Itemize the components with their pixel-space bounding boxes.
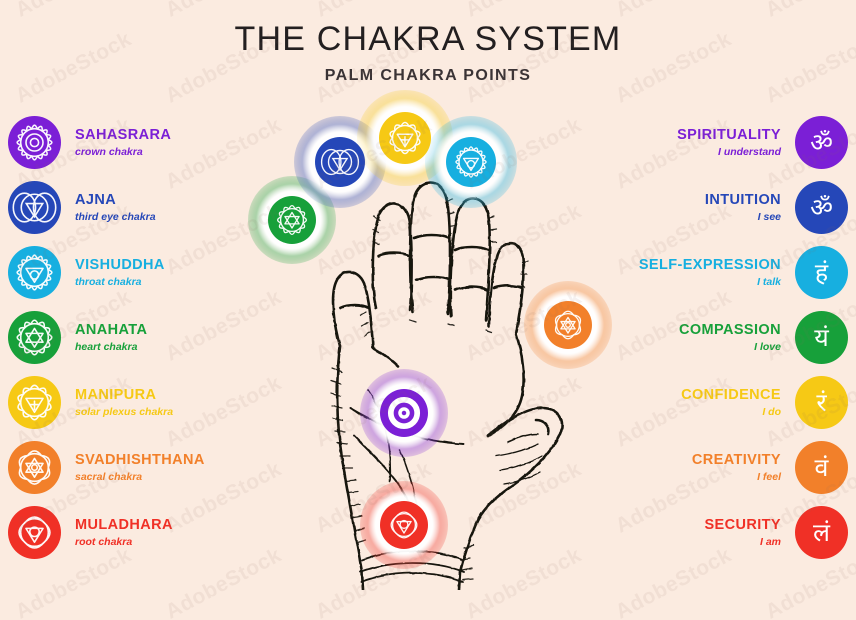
left-label-group: MULADHARAroot chakra	[75, 517, 173, 548]
sahasrara-rings-icon	[380, 389, 428, 437]
right-label-group: SPIRITUALITYI understand	[677, 127, 781, 158]
right-row-spirituality[interactable]: ॐSPIRITUALITYI understand	[588, 110, 848, 175]
page-subtitle: PALM CHAKRA POINTS	[0, 67, 856, 85]
chakra-name-list: SAHASRARAcrown chakra	[8, 110, 268, 565]
anahata-lotus-icon[interactable]	[8, 311, 61, 364]
mantra-glyph: ॐ	[810, 195, 833, 220]
left-secondary-label: third eye chakra	[75, 211, 156, 223]
left-row-ajna[interactable]: AJNAthird eye chakra	[8, 175, 268, 240]
watermark-text: AdobeStock	[612, 0, 736, 23]
ajna-lotus-icon[interactable]	[8, 181, 61, 234]
left-label-group: VISHUDDHAthroat chakra	[75, 257, 165, 288]
left-secondary-label: sacral chakra	[75, 471, 205, 483]
watermark-text: AdobeStock	[12, 0, 136, 23]
left-primary-label: SAHASRARA	[75, 127, 171, 144]
left-row-vishuddha[interactable]: VISHUDDHAthroat chakra	[8, 240, 268, 305]
right-label-group: CONFIDENCEI do	[681, 387, 781, 418]
svadhishthana-lotus-icon[interactable]	[8, 441, 61, 494]
left-row-muladhara[interactable]: MULADHARAroot chakra	[8, 500, 268, 565]
left-label-group: SAHASRARAcrown chakra	[75, 127, 171, 158]
right-secondary-label: I see	[705, 211, 781, 223]
mantra-glyph: ॐ	[810, 130, 833, 155]
right-label-group: COMPASSIONI love	[679, 322, 781, 353]
right-row-compassion[interactable]: यंCOMPASSIONI love	[588, 305, 848, 370]
ajna-lotus-icon	[315, 137, 365, 187]
left-primary-label: VISHUDDHA	[75, 257, 165, 274]
left-primary-label: MANIPURA	[75, 387, 173, 404]
page-header: THE CHAKRA SYSTEM PALM CHAKRA POINTS	[0, 22, 856, 85]
chakra-quality-list: ॐSPIRITUALITYI understandॐINTUITIONI see…	[588, 110, 848, 565]
right-primary-label: INTUITION	[705, 192, 781, 209]
right-label-group: SECURITYI am	[704, 517, 781, 548]
right-label-group: SELF-EXPRESSIONI talk	[639, 257, 781, 288]
om-mantra-icon[interactable]: ॐ	[795, 181, 848, 234]
left-secondary-label: root chakra	[75, 536, 173, 548]
right-label-group: CREATIVITYI feel	[692, 452, 781, 483]
ham-mantra-icon[interactable]: हं	[795, 246, 848, 299]
sahasrara-lotus-icon[interactable]	[8, 116, 61, 169]
om-mantra-icon[interactable]: ॐ	[795, 116, 848, 169]
left-secondary-label: throat chakra	[75, 276, 165, 288]
left-primary-label: MULADHARA	[75, 517, 173, 534]
ram-mantra-icon[interactable]: रं	[795, 376, 848, 429]
mantra-glyph: रं	[816, 390, 826, 415]
left-row-anahata[interactable]: ANAHATAheart chakra	[8, 305, 268, 370]
manipura-lotus-icon	[379, 112, 431, 164]
right-primary-label: COMPASSION	[679, 322, 781, 339]
right-row-creativity[interactable]: वंCREATIVITYI feel	[588, 435, 848, 500]
right-primary-label: CREATIVITY	[692, 452, 781, 469]
mantra-glyph: लं	[813, 520, 830, 545]
left-row-manipura[interactable]: MANIPURAsolar plexus chakra	[8, 370, 268, 435]
muladhara-orb[interactable]	[360, 481, 449, 570]
svadhishthana-lotus-icon	[544, 301, 592, 349]
left-primary-label: ANAHATA	[75, 322, 147, 339]
left-secondary-label: crown chakra	[75, 146, 171, 158]
muladhara-lotus-icon[interactable]	[8, 506, 61, 559]
right-secondary-label: I understand	[677, 146, 781, 158]
right-primary-label: SELF-EXPRESSION	[639, 257, 781, 274]
vishuddha-lotus-icon[interactable]	[8, 246, 61, 299]
anahata-lotus-icon	[268, 196, 316, 244]
right-secondary-label: I talk	[639, 276, 781, 288]
muladhara-lotus-icon	[380, 501, 428, 549]
sahasrara-orb[interactable]	[360, 369, 449, 458]
watermark-text: AdobeStock	[762, 0, 856, 23]
left-secondary-label: heart chakra	[75, 341, 147, 353]
left-primary-label: AJNA	[75, 192, 156, 209]
mantra-glyph: वं	[815, 455, 829, 480]
right-secondary-label: I love	[679, 341, 781, 353]
right-row-confidence[interactable]: रंCONFIDENCEI do	[588, 370, 848, 435]
left-row-svadhishthana[interactable]: SVADHISHTHANAsacral chakra	[8, 435, 268, 500]
right-secondary-label: I feel	[692, 471, 781, 483]
mantra-glyph: हं	[815, 260, 828, 285]
vishuddha-orb[interactable]	[425, 116, 518, 209]
lam-mantra-icon[interactable]: लं	[795, 506, 848, 559]
right-primary-label: SECURITY	[704, 517, 781, 534]
right-primary-label: SPIRITUALITY	[677, 127, 781, 144]
svadhishthana-orb[interactable]	[524, 281, 613, 370]
vam-mantra-icon[interactable]: वं	[795, 441, 848, 494]
right-row-security[interactable]: लंSECURITYI am	[588, 500, 848, 565]
left-primary-label: SVADHISHTHANA	[75, 452, 205, 469]
yam-mantra-icon[interactable]: यं	[795, 311, 848, 364]
vishuddha-lotus-icon	[446, 137, 496, 187]
right-row-self-expression[interactable]: हंSELF-EXPRESSIONI talk	[588, 240, 848, 305]
manipura-lotus-icon[interactable]	[8, 376, 61, 429]
left-secondary-label: solar plexus chakra	[75, 406, 173, 418]
mantra-glyph: यं	[814, 325, 829, 350]
right-secondary-label: I do	[681, 406, 781, 418]
left-row-sahasrara[interactable]: SAHASRARAcrown chakra	[8, 110, 268, 175]
page-title: THE CHAKRA SYSTEM	[0, 22, 856, 58]
left-label-group: MANIPURAsolar plexus chakra	[75, 387, 173, 418]
left-label-group: AJNAthird eye chakra	[75, 192, 156, 223]
right-label-group: INTUITIONI see	[705, 192, 781, 223]
right-row-intuition[interactable]: ॐINTUITIONI see	[588, 175, 848, 240]
right-secondary-label: I am	[704, 536, 781, 548]
right-primary-label: CONFIDENCE	[681, 387, 781, 404]
left-label-group: ANAHATAheart chakra	[75, 322, 147, 353]
palm-illustration-stage	[250, 90, 610, 590]
left-label-group: SVADHISHTHANAsacral chakra	[75, 452, 205, 483]
